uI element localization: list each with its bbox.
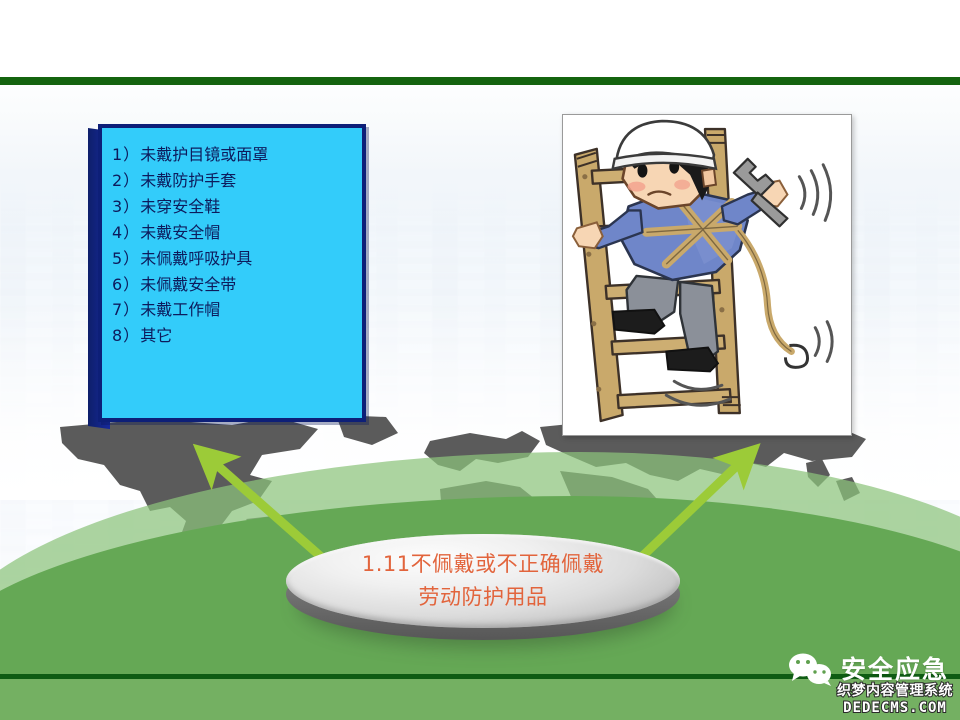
list-item-number: 2）: [112, 171, 140, 190]
list-item-label: 未戴护目镜或面罩: [140, 145, 268, 164]
list-item: 3）未穿安全鞋: [112, 198, 352, 216]
list-item-label: 未佩戴安全带: [140, 275, 236, 294]
worker-illustration-card: [562, 114, 852, 436]
list-item-label: 未戴工作帽: [140, 300, 220, 319]
list-item: 5）未佩戴呼吸护具: [112, 250, 352, 268]
list-item: 8）其它: [112, 327, 352, 345]
watermark-cn: 织梦内容管理系统: [837, 684, 953, 698]
oval-title-line-2: 劳动防护用品: [419, 587, 548, 608]
list-item-label: 未佩戴呼吸护具: [140, 249, 252, 268]
watermark-en: DEDECMS.COM: [843, 701, 947, 715]
list-item: 4）未戴安全帽: [112, 224, 352, 242]
oval-text-block: 1.11不佩戴或不正确佩戴 劳动防护用品: [286, 534, 680, 628]
list-item-number: 1）: [112, 145, 140, 164]
title-oval: 1.11不佩戴或不正确佩戴 劳动防护用品: [286, 534, 682, 650]
list-item-number: 4）: [112, 223, 140, 242]
list-item-label: 未穿安全鞋: [140, 197, 220, 216]
list-item-number: 8）: [112, 326, 140, 345]
oval-title-line-1: 1.11不佩戴或不正确佩戴: [362, 554, 604, 575]
site-watermark: 织梦内容管理系统 DEDECMS.COM: [832, 684, 958, 715]
wechat-badge: 安全应急: [788, 652, 949, 686]
ppe-violation-list: 1）未戴护目镜或面罩 2）未戴防护手套 3）未穿安全鞋 4）未戴安全帽 5）未佩…: [112, 146, 352, 345]
list-item: 7）未戴工作帽: [112, 301, 352, 319]
list-item-number: 3）: [112, 197, 140, 216]
header-green-rule: [0, 77, 960, 85]
list-item-number: 7）: [112, 300, 140, 319]
list-item-number: 6）: [112, 275, 140, 294]
wechat-icon: [788, 652, 834, 686]
list-item: 1）未戴护目镜或面罩: [112, 146, 352, 164]
list-item: 2）未戴防护手套: [112, 172, 352, 190]
list-item: 6）未佩戴安全带: [112, 276, 352, 294]
list-panel: 1）未戴护目镜或面罩 2）未戴防护手套 3）未穿安全鞋 4）未戴安全帽 5）未佩…: [88, 124, 368, 424]
wechat-label: 安全应急: [841, 657, 949, 682]
list-item-label: 未戴安全帽: [140, 223, 220, 242]
list-item-number: 5）: [112, 249, 140, 268]
list-item-label: 其它: [140, 326, 172, 345]
slide-canvas: 1.11不佩戴或不正确佩戴 劳动防护用品 1）未戴护目镜或面罩 2）未戴防护手套…: [0, 0, 960, 720]
list-item-label: 未戴防护手套: [140, 171, 236, 190]
worker-on-ladder-illustration: [563, 115, 851, 435]
